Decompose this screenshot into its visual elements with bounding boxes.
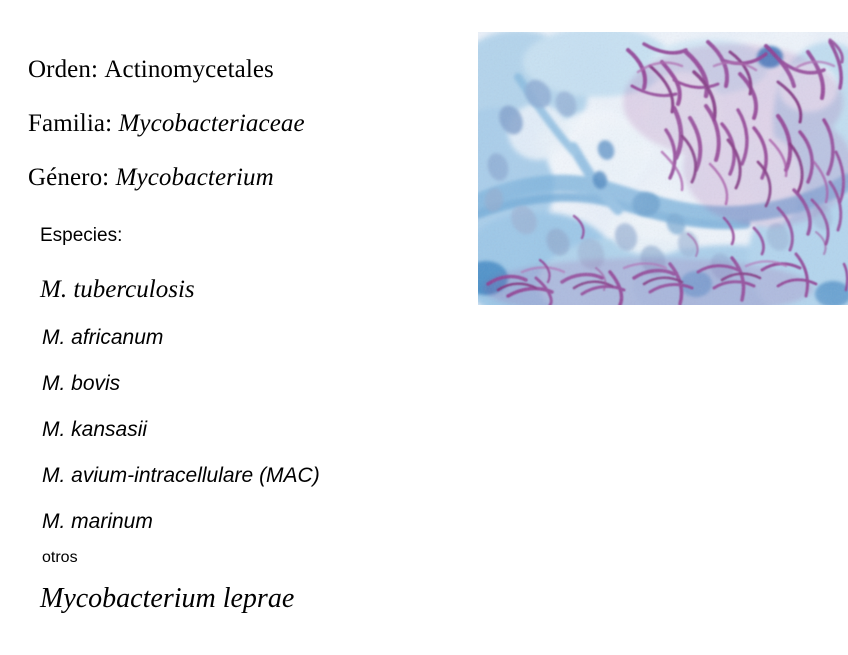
taxonomy-panel: Orden: Actinomycetales Familia: Mycobact… <box>0 0 470 655</box>
ziehl-neelsen-acid-fast-stain-micrograph <box>478 32 848 305</box>
species-item-m-africanum: M. africanum <box>42 327 163 348</box>
species-item-m-kansasii: M. kansasii <box>42 419 147 440</box>
taxonomy-rank-orden-label: Orden: <box>28 56 98 83</box>
taxonomy-rank-familia-value: Mycobacteriaceae <box>119 110 305 137</box>
micrograph-canvas <box>478 32 848 305</box>
species-item-m-bovis: M. bovis <box>42 373 120 394</box>
taxonomy-rank-familia-label: Familia: <box>28 110 112 137</box>
species-item-mycobacterium-leprae: Mycobacterium leprae <box>40 585 294 613</box>
taxonomy-rank-orden-value: Actinomycetales <box>104 56 274 83</box>
taxonomy-rank-genero: Género: Mycobacterium <box>28 165 274 190</box>
species-item-m-tuberculosis: M. tuberculosis <box>40 277 195 302</box>
taxonomy-rank-familia: Familia: Mycobacteriaceae <box>28 111 305 136</box>
species-item-otros: otros <box>42 550 78 566</box>
taxonomy-rank-orden: Orden: Actinomycetales <box>28 57 274 82</box>
species-list-heading: Especies: <box>40 226 122 245</box>
taxonomy-rank-genero-value: Mycobacterium <box>116 164 274 191</box>
taxonomy-rank-genero-label: Género: <box>28 164 109 191</box>
species-item-m-avium-intracellulare: M. avium-intracellulare (MAC) <box>42 465 320 486</box>
species-item-m-marinum: M. marinum <box>42 511 153 532</box>
